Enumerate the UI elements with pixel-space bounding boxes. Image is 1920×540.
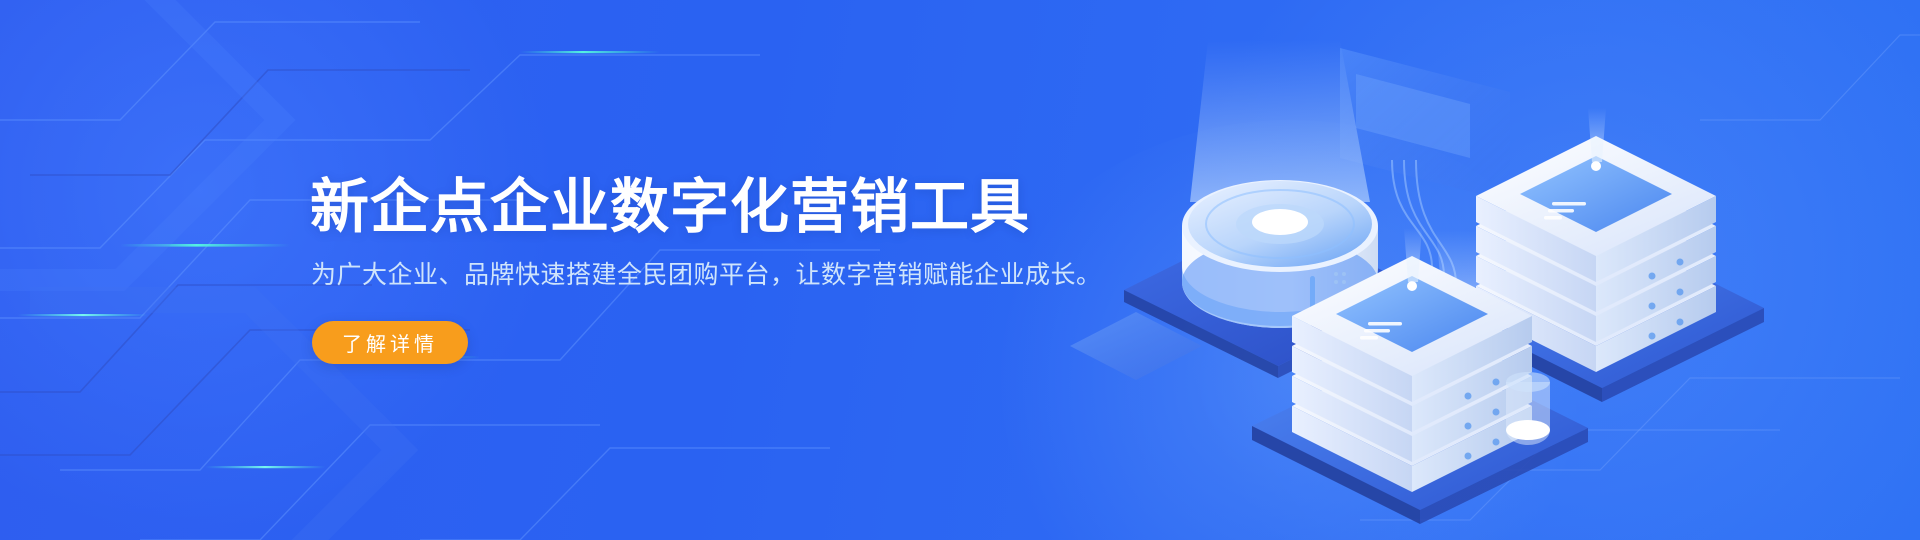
- banner-subheadline: 为广大企业、品牌快速搭建全民团购平台，让数字营销赋能企业成长。: [311, 260, 1102, 291]
- banner-content: 新企点企业数字化营销工具 为广大企业、品牌快速搭建全民团购平台，让数字营销赋能企…: [308, 0, 1068, 540]
- promo-banner: 新企点企业数字化营销工具 为广大企业、品牌快速搭建全民团购平台，让数字营销赋能企…: [0, 0, 1920, 540]
- front-small-cylinder: [1506, 372, 1550, 445]
- server-status-light: [1591, 161, 1601, 171]
- light-beam: [1190, 40, 1370, 202]
- banner-headline: 新企点企业数字化营销工具: [310, 176, 1030, 239]
- learn-more-button[interactable]: 了解详情: [312, 321, 468, 364]
- isometric-cloud-servers-illustration: ¥: [1040, 30, 1920, 530]
